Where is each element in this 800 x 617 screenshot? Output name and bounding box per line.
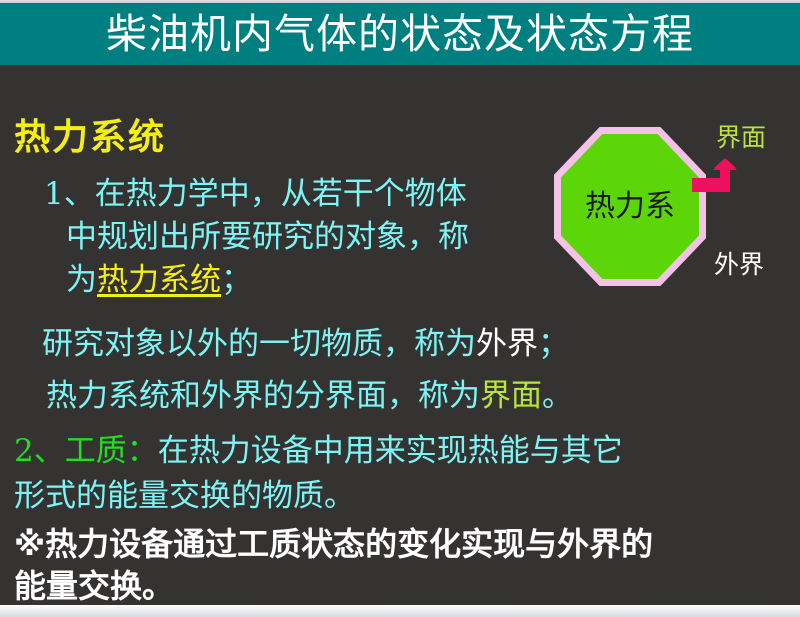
line3-keyword-boundary: 界面 bbox=[480, 378, 542, 414]
item1-line-a: 1、在热力学中，从若干个物体 bbox=[44, 168, 467, 213]
section-heading-thermal-system: 热力系统 bbox=[14, 108, 166, 160]
title-band: 柴油机内气体的状态及状态方程 bbox=[0, 3, 800, 65]
bottom-edge-strip bbox=[0, 605, 800, 617]
definition-line-boundary: 热力系统和外界的分界面，称为界面。 bbox=[46, 370, 573, 415]
definition-line-surroundings: 研究对象以外的一切物质，称为外界； bbox=[42, 318, 569, 363]
boundary-callout-arrow-icon bbox=[692, 158, 746, 192]
item1-line-c-suffix: ； bbox=[221, 262, 252, 298]
diagram-label-surroundings: 外界 bbox=[714, 245, 764, 281]
slide-canvas: 柴油机内气体的状态及状态方程 热力系统 1、在热力学中，从若干个物体 中规划出所… bbox=[0, 0, 800, 617]
page-title: 柴油机内气体的状态及状态方程 bbox=[0, 4, 800, 64]
item1-line-c-prefix: 为 bbox=[66, 262, 97, 298]
line3-prefix: 热力系统和外界的分界面，称为 bbox=[46, 378, 480, 414]
line2-prefix: 研究对象以外的一切物质，称为 bbox=[42, 326, 476, 362]
item2-marker-working-fluid: 2、工质： bbox=[14, 433, 158, 469]
octagon-label-thermal-system: 热力系 bbox=[554, 127, 706, 286]
item1-keyword-thermal-system: 热力系统 bbox=[97, 262, 221, 298]
thermal-system-octagon-diagram: 热力系 bbox=[554, 127, 706, 286]
item2-line-b: 形式的能量交换的物质。 bbox=[14, 470, 355, 515]
diagram-label-boundary: 界面 bbox=[716, 118, 766, 154]
item2-line-a: 2、工质：在热力设备中用来实现热能与其它 bbox=[14, 425, 623, 470]
item1-line-b: 中规划出所要研究的对象，称 bbox=[66, 211, 469, 256]
emphasis-line-a: ※热力设备通过工质状态的变化实现与外界的 bbox=[14, 519, 653, 565]
line2-suffix: ； bbox=[538, 326, 569, 362]
item2-line-a-text: 在热力设备中用来实现热能与其它 bbox=[158, 433, 623, 469]
line3-suffix: 。 bbox=[542, 378, 573, 414]
line2-keyword-surroundings: 外界 bbox=[476, 326, 538, 362]
emphasis-line-b: 能量交换。 bbox=[14, 561, 174, 607]
item1-line-c: 为热力系统； bbox=[66, 254, 252, 299]
